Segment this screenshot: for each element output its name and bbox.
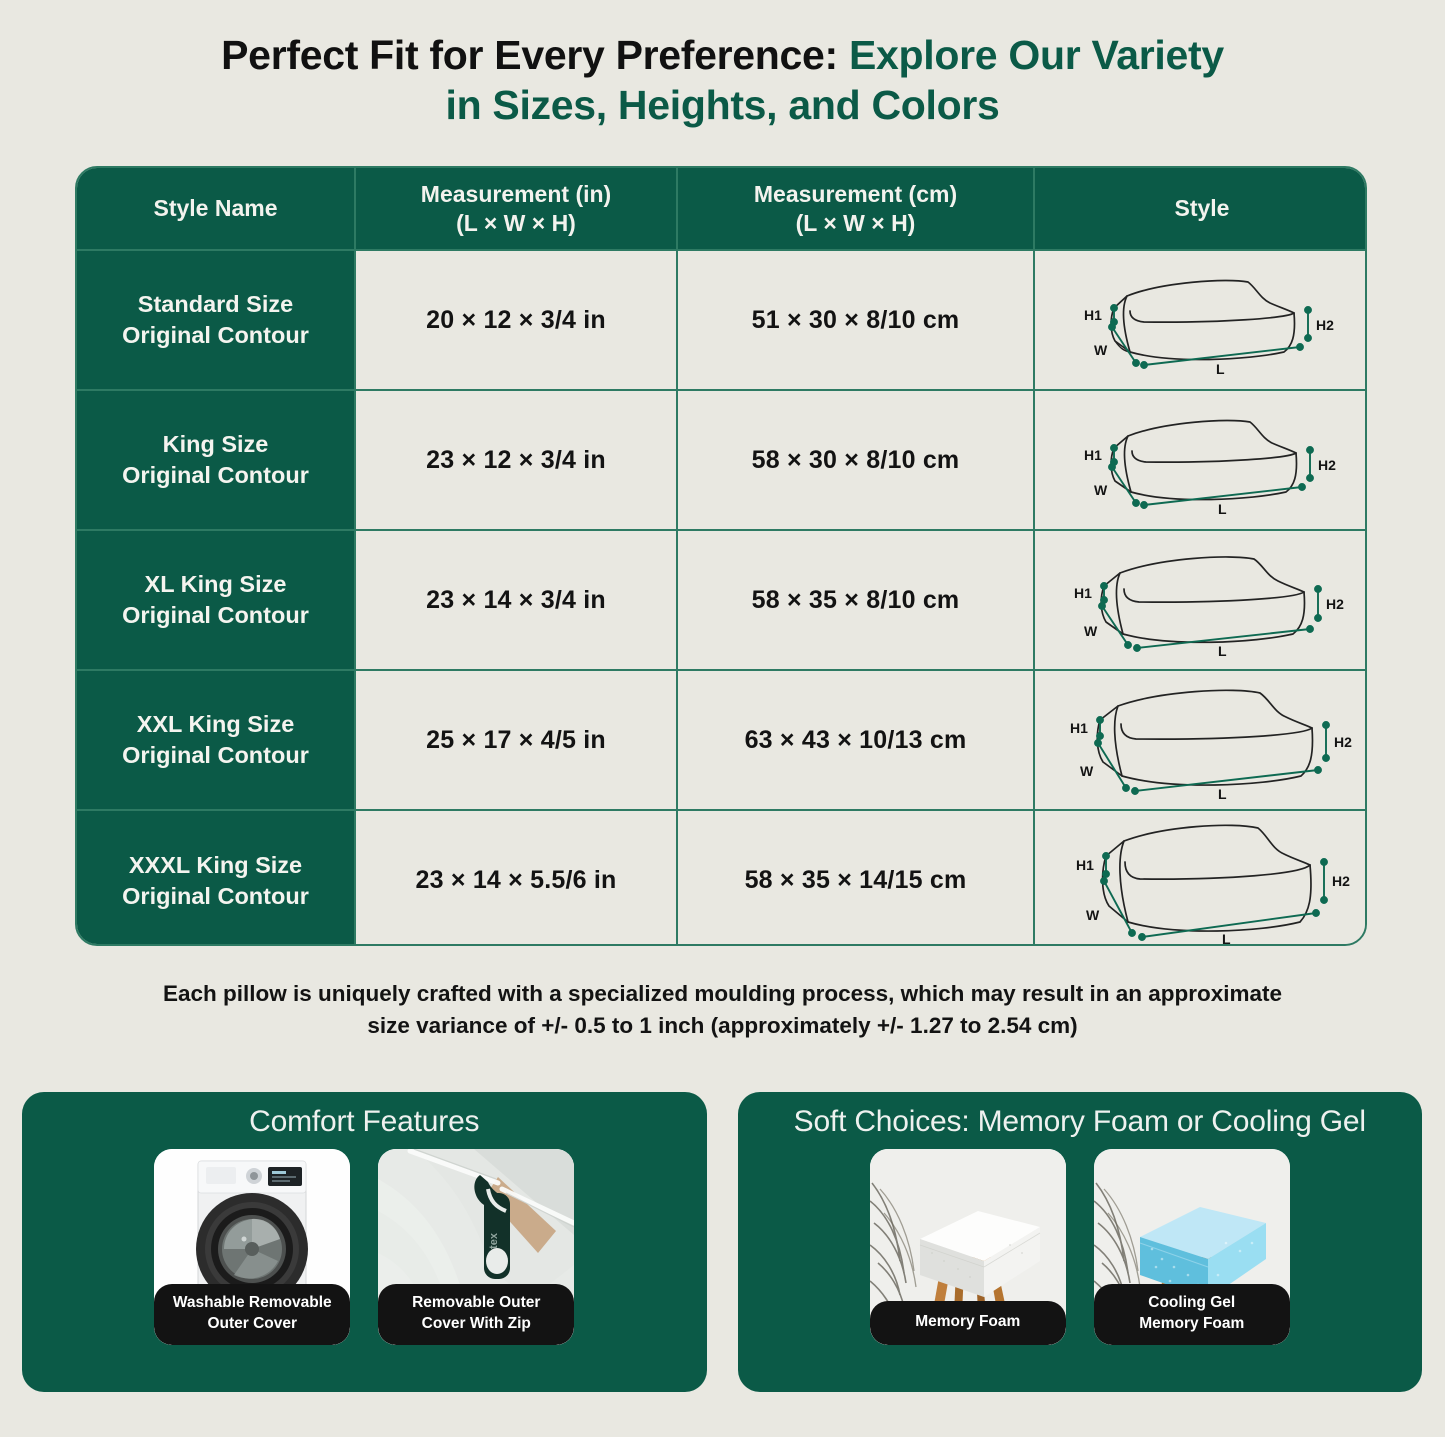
cell-style-illustration: H1 H2 W L (1034, 250, 1367, 390)
table-row: XXL King Size Original Contour 25 × 17 ×… (77, 670, 1367, 810)
label-h1: H1 (1074, 585, 1092, 601)
cell-style-illustration: H1 H2 W L (1034, 670, 1367, 810)
cell-style-name: XXXL King Size Original Contour (77, 810, 355, 946)
cell-style-name: XXL King Size Original Contour (77, 670, 355, 810)
tile-memory-foam[interactable]: Memory Foam (870, 1149, 1066, 1345)
label-l: L (1216, 361, 1225, 377)
feature-cards: Comfort Features (22, 1092, 1422, 1392)
label-w: W (1094, 482, 1108, 498)
cell-measurement-inches: 23 × 14 × 3/4 in (355, 530, 677, 670)
cell-style-name: Standard Size Original Contour (77, 250, 355, 390)
label-w: W (1094, 342, 1108, 358)
card-soft-choices: Soft Choices: Memory Foam or Cooling Gel (738, 1092, 1423, 1392)
cell-measurement-cm: 63 × 43 × 10/13 cm (677, 670, 1034, 810)
card-title: Soft Choices: Memory Foam or Cooling Gel (794, 1105, 1366, 1139)
label-h2: H2 (1326, 596, 1344, 612)
label-l: L (1218, 501, 1227, 517)
label-h2: H2 (1332, 873, 1350, 889)
column-header-style-name: Style Name (77, 168, 355, 250)
table-row: King Size Original Contour 23 × 12 × 3/4… (77, 390, 1367, 530)
pillow-diagram-icon: H1 H2 W L (1052, 540, 1352, 660)
column-header-measurement-cm: Measurement (cm) (L × W × H) (677, 168, 1034, 250)
label-w: W (1080, 763, 1094, 779)
column-header-measurement-inches: Measurement (in) (L × W × H) (355, 168, 677, 250)
cell-measurement-inches: 25 × 17 × 4/5 in (355, 670, 677, 810)
cell-style-name: XL King Size Original Contour (77, 530, 355, 670)
label-w: W (1086, 907, 1100, 923)
cell-measurement-cm: 58 × 35 × 14/15 cm (677, 810, 1034, 946)
page-title-dark-part: Perfect Fit for Every Preference: (221, 32, 838, 78)
label-h2: H2 (1318, 457, 1336, 473)
label-l: L (1222, 931, 1231, 946)
cell-style-illustration: H1 H2 W L (1034, 810, 1367, 946)
label-h2: H2 (1316, 317, 1334, 333)
cell-measurement-inches: 20 × 12 × 3/4 in (355, 250, 677, 390)
cell-measurement-inches: 23 × 14 × 5.5/6 in (355, 810, 677, 946)
cell-measurement-cm: 51 × 30 × 8/10 cm (677, 250, 1034, 390)
tile-caption: Cooling Gel Memory Foam (1094, 1284, 1290, 1345)
tile-cooling-gel-memory-foam[interactable]: Cooling Gel Memory Foam (1094, 1149, 1290, 1345)
cell-style-illustration: H1 H2 W L (1034, 390, 1367, 530)
page-title-green-part: Explore Our Variety (838, 32, 1224, 78)
tile-removable-outer-cover-with-zip[interactable]: tex Removable Outer Cover With Zip (378, 1149, 574, 1345)
page-title: Perfect Fit for Every Preference: Explor… (0, 0, 1445, 130)
card-tiles: Washable Removable Outer Cover (154, 1149, 574, 1345)
label-h2: H2 (1334, 734, 1352, 750)
cell-measurement-cm: 58 × 35 × 8/10 cm (677, 530, 1034, 670)
column-header-style: Style (1034, 168, 1367, 250)
tile-caption: Washable Removable Outer Cover (154, 1284, 350, 1345)
cell-style-name: King Size Original Contour (77, 390, 355, 530)
label-h1: H1 (1070, 720, 1088, 736)
tile-caption: Memory Foam (870, 1301, 1066, 1345)
cell-measurement-cm: 58 × 30 × 8/10 cm (677, 390, 1034, 530)
label-h1: H1 (1084, 307, 1102, 323)
pillow-diagram-icon: H1 H2 W L (1052, 260, 1352, 380)
table-row: XXXL King Size Original Contour 23 × 14 … (77, 810, 1367, 946)
size-chart-table-container: Style Name Measurement (in) (L × W × H) … (75, 166, 1367, 946)
card-tiles: Memory Foam (870, 1149, 1290, 1345)
disclaimer-line-1: Each pillow is uniquely crafted with a s… (90, 978, 1355, 1010)
label-l: L (1218, 643, 1227, 659)
pillow-diagram-icon: H1 H2 W L (1052, 678, 1352, 803)
label-h1: H1 (1076, 857, 1094, 873)
pillow-diagram-icon: H1 H2 W L (1052, 816, 1352, 946)
page-title-line-2: in Sizes, Heights, and Colors (100, 80, 1345, 130)
table-row: XL King Size Original Contour 23 × 14 × … (77, 530, 1367, 670)
tile-caption: Removable Outer Cover With Zip (378, 1284, 574, 1345)
pillow-diagram-icon: H1 H2 W L (1052, 400, 1352, 520)
table-row: Standard Size Original Contour 20 × 12 ×… (77, 250, 1367, 390)
cell-style-illustration: H1 H2 W L (1034, 530, 1367, 670)
card-title: Comfort Features (249, 1105, 479, 1139)
page-title-line-1: Perfect Fit for Every Preference: Explor… (100, 30, 1345, 80)
tile-washable-removable-outer-cover[interactable]: Washable Removable Outer Cover (154, 1149, 350, 1345)
label-h1: H1 (1084, 447, 1102, 463)
svg-text:tex: tex (488, 1232, 500, 1249)
label-l: L (1218, 786, 1227, 802)
label-w: W (1084, 623, 1098, 639)
card-comfort-features: Comfort Features (22, 1092, 707, 1392)
table-header-row: Style Name Measurement (in) (L × W × H) … (77, 168, 1367, 250)
cell-measurement-inches: 23 × 12 × 3/4 in (355, 390, 677, 530)
size-variance-disclaimer: Each pillow is uniquely crafted with a s… (90, 978, 1355, 1043)
disclaimer-line-2: size variance of +/- 0.5 to 1 inch (appr… (90, 1010, 1355, 1042)
size-chart-table: Style Name Measurement (in) (L × W × H) … (77, 168, 1367, 946)
